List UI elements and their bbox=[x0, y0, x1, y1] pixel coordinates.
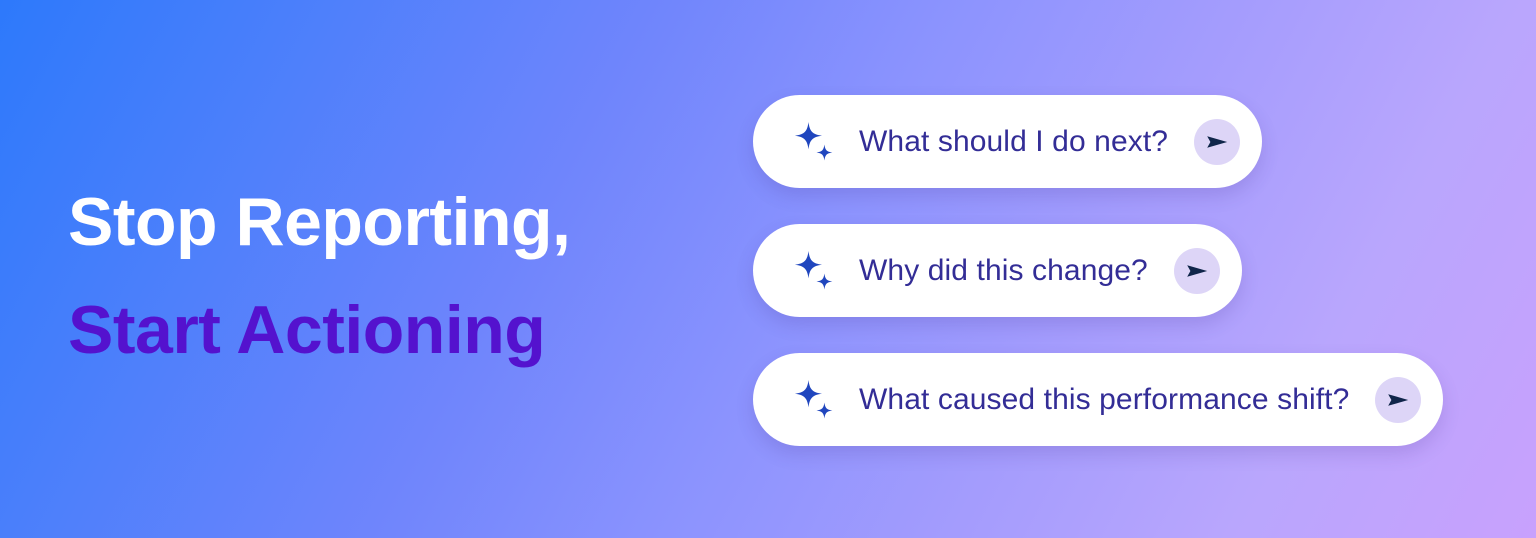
send-button[interactable] bbox=[1194, 119, 1240, 165]
send-button[interactable] bbox=[1375, 377, 1421, 423]
send-icon bbox=[1184, 258, 1210, 284]
send-button[interactable] bbox=[1174, 248, 1220, 294]
prompt-text: What should I do next? bbox=[859, 125, 1168, 159]
prompt-card[interactable]: What should I do next? bbox=[753, 95, 1262, 188]
sparkle-icon bbox=[791, 377, 837, 423]
prompt-suggestion-list: What should I do next? Why did this chan… bbox=[753, 95, 1493, 446]
sparkle-icon bbox=[791, 119, 837, 165]
send-icon bbox=[1385, 387, 1411, 413]
prompt-card[interactable]: What caused this performance shift? bbox=[753, 353, 1443, 446]
hero-banner: Stop Reporting, Start Actioning What sho… bbox=[0, 0, 1536, 538]
headline-line-1: Stop Reporting, bbox=[68, 168, 708, 276]
sparkle-icon bbox=[791, 248, 837, 294]
prompt-text: What caused this performance shift? bbox=[859, 383, 1349, 417]
headline-line-2: Start Actioning bbox=[68, 276, 708, 384]
prompt-text: Why did this change? bbox=[859, 254, 1148, 288]
send-icon bbox=[1204, 129, 1230, 155]
headline-block: Stop Reporting, Start Actioning bbox=[68, 168, 708, 384]
prompt-card[interactable]: Why did this change? bbox=[753, 224, 1242, 317]
